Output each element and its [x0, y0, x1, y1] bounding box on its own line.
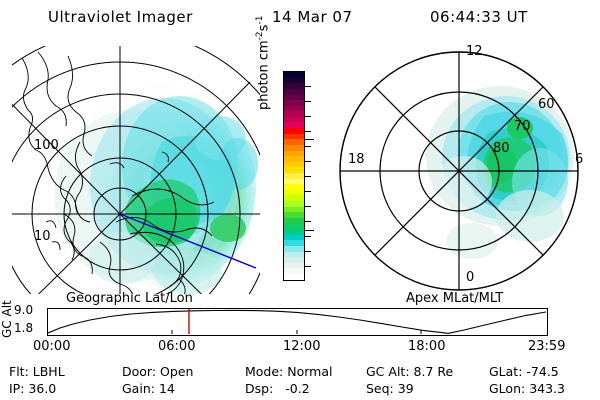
status-gcalt: GC Alt: 8.7 Re — [366, 364, 453, 379]
status-flt-value: LBHL — [33, 364, 65, 379]
colorbar-tick — [305, 176, 311, 177]
status-gcalt-label: GC Alt: — [366, 364, 410, 379]
colorbar-tick — [305, 206, 311, 207]
colorbar-ticks — [305, 71, 314, 281]
mlt-label-12: 12 — [466, 44, 483, 59]
status-gain-label: Gain: — [122, 381, 155, 396]
mlt-label-6: 6 — [575, 152, 583, 167]
status-glon-value: 343.3 — [529, 381, 565, 396]
status-mode-label: Mode: — [245, 364, 283, 379]
colorbar-label-10: 10 — [34, 230, 51, 243]
magnetic-polar-plot[interactable] — [334, 46, 584, 296]
colorbar-tick — [305, 101, 311, 102]
colorbar-tick — [305, 131, 311, 132]
status-door: Door: Open — [122, 364, 193, 379]
colorbar-major-tick-0 — [305, 139, 314, 140]
cbar-title-exp1: -2 — [255, 31, 265, 40]
x-tick-0: 00:00 — [33, 340, 70, 353]
status-flt: Flt: LBHL — [9, 364, 65, 379]
mlt-label-0: 0 — [466, 270, 474, 285]
colorbar-major-tick-1 — [305, 230, 314, 231]
y-tick-low: 1.8 — [14, 322, 33, 334]
status-glat-value: -74.5 — [526, 364, 558, 379]
x-tick-4: 23:59 — [528, 340, 565, 353]
status-glat-label: GLat: — [489, 364, 522, 379]
status-mode: Mode: Normal — [245, 364, 333, 379]
orbit-altitude-strip[interactable] — [47, 308, 548, 336]
status-row-1: Flt: LBHL Door: Open Mode: Normal GC Alt… — [0, 364, 600, 381]
colorbar-band-36 — [284, 274, 304, 280]
colorbar-tick — [305, 116, 311, 117]
colorbar-tick — [305, 266, 311, 267]
status-gain: Gain: 14 — [122, 381, 175, 396]
geographic-polar-plot[interactable] — [12, 46, 260, 294]
status-seq: Seq: 39 — [366, 381, 414, 396]
x-axis-minor-ticks — [172, 330, 421, 334]
status-flt-label: Flt: — [9, 364, 29, 379]
uvi-screenshot: Ultraviolet Imager 14 Mar 07 06:44:33 UT — [0, 0, 600, 400]
cbar-title-main: photon cm — [256, 40, 271, 110]
cbar-title-exp2: -1 — [255, 16, 265, 25]
altitude-curve — [48, 310, 546, 333]
colorbar-tick — [305, 86, 311, 87]
status-dsp-value: -0.2 — [277, 381, 309, 396]
mlt-label-18: 18 — [348, 152, 365, 167]
status-seq-label: Seq: — [366, 381, 394, 396]
cbar-title-mid: s — [256, 25, 271, 32]
status-mode-value: Normal — [287, 364, 332, 379]
caption-magnetic: Apex MLat/MLT — [406, 291, 503, 306]
status-glon: GLon: 343.3 — [489, 381, 565, 396]
colorbar-tick — [305, 146, 311, 147]
observation-time: 06:44:33 UT — [430, 8, 528, 26]
status-ip: IP: 36.0 — [9, 381, 56, 396]
status-ip-value: 36.0 — [28, 381, 56, 396]
colorbar — [283, 71, 305, 281]
colorbar-tick — [305, 161, 311, 162]
status-dsp-label: Dsp: — [245, 381, 273, 396]
caption-geographic: Geographic Lat/Lon — [66, 291, 193, 306]
status-door-value: Open — [160, 364, 193, 379]
x-tick-2: 12:00 — [283, 340, 320, 353]
status-seq-value: 39 — [398, 381, 414, 396]
status-bar: Flt: LBHL Door: Open Mode: Normal GC Alt… — [0, 364, 600, 400]
colorbar-gradient — [283, 71, 305, 281]
x-tick-3: 18:00 — [408, 340, 445, 353]
status-gain-value: 14 — [159, 381, 175, 396]
status-glat: GLat: -74.5 — [489, 364, 559, 379]
mlat-label-70: 70 — [514, 119, 531, 134]
gc-alt-text: GC Alt — [0, 300, 14, 338]
colorbar-tick — [305, 251, 311, 252]
x-tick-1: 06:00 — [158, 340, 195, 353]
page-title: Ultraviolet Imager — [48, 8, 193, 26]
colorbar-label-100: 100 — [34, 139, 59, 152]
colorbar-axis-title: photon cm-2s-1 — [255, 0, 271, 110]
observation-date: 14 Mar 07 — [272, 8, 353, 26]
status-gcalt-value: 8.7 Re — [414, 364, 454, 379]
status-glon-label: GLon: — [489, 381, 525, 396]
colorbar-tick — [305, 221, 311, 222]
status-dsp: Dsp: -0.2 — [245, 381, 310, 396]
status-ip-label: IP: — [9, 381, 24, 396]
mlat-label-80: 80 — [493, 141, 510, 156]
colorbar-tick — [305, 236, 311, 237]
status-door-label: Door: — [122, 364, 156, 379]
y-tick-high: 9.0 — [14, 304, 33, 316]
colorbar-tick — [305, 191, 311, 192]
mlat-label-60: 60 — [538, 97, 555, 112]
mlt-spokes — [338, 50, 580, 292]
status-row-2: IP: 36.0 Gain: 14 Dsp: -0.2 Seq: 39 GLon… — [0, 381, 600, 398]
